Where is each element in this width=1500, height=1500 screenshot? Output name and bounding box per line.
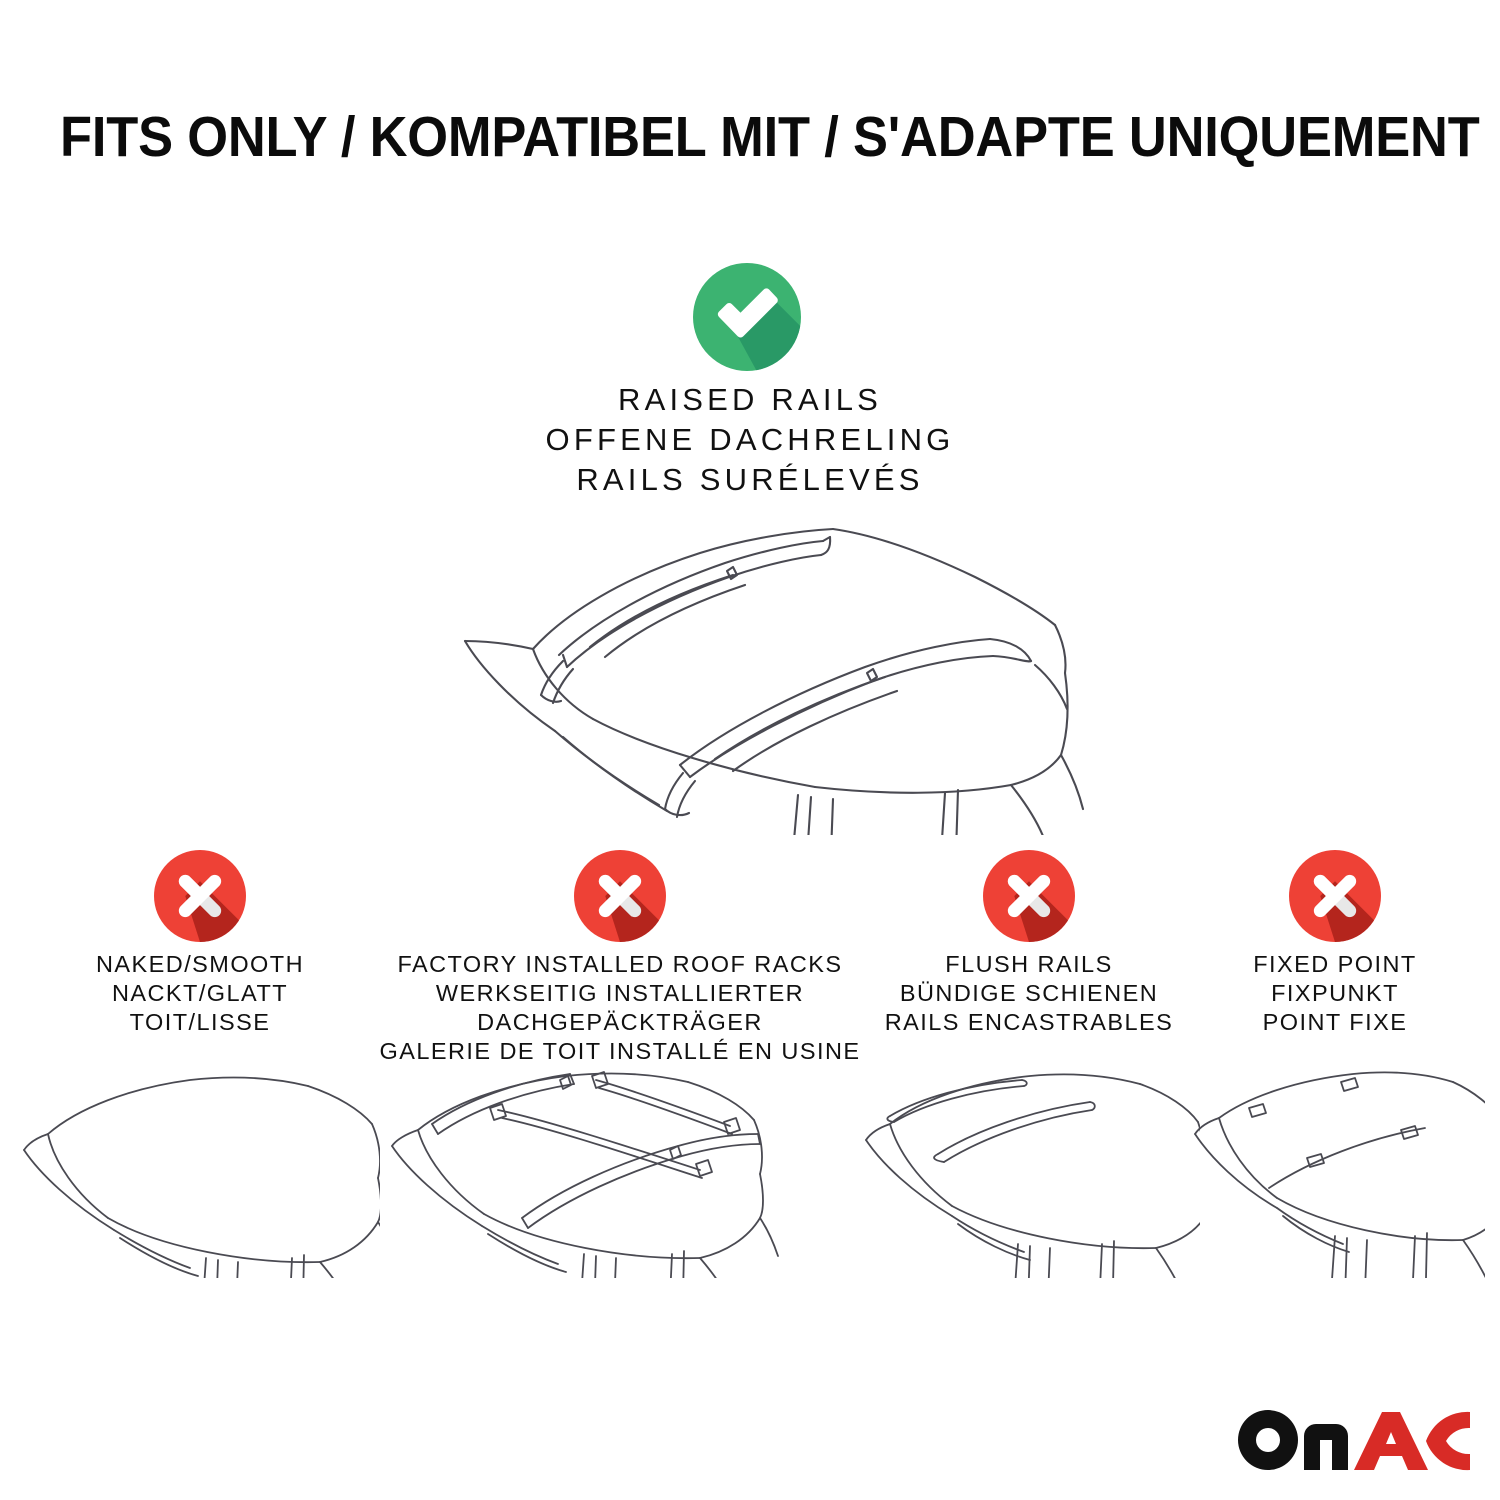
label-block: FLUSH RAILS BÜNDIGE SCHIENEN RAILS ENCAS… bbox=[858, 950, 1200, 1037]
flush-rails-roof-illustration bbox=[858, 1058, 1200, 1283]
label-line-3: POINT FIXE bbox=[1195, 1008, 1475, 1037]
logo-letter-o bbox=[1238, 1410, 1298, 1470]
label-block: FIXED POINT FIXPUNKT POINT FIXE bbox=[1195, 950, 1475, 1037]
page-title: FITS ONLY / KOMPATIBEL MIT / S'ADAPTE UN… bbox=[60, 104, 1440, 170]
red-x-icon bbox=[154, 850, 246, 942]
logo-letter-m bbox=[1304, 1424, 1348, 1470]
incompatible-column-fixed-point: FIXED POINT FIXPUNKT POINT FIXE bbox=[1195, 840, 1475, 1037]
label-line-1: NAKED/SMOOTH bbox=[20, 950, 380, 979]
fitment-info-graphic: FITS ONLY / KOMPATIBEL MIT / S'ADAPTE UN… bbox=[0, 0, 1500, 1500]
label-line-2: NACKT/GLATT bbox=[20, 979, 380, 1008]
label-line-3: RAILS ENCASTRABLES bbox=[858, 1008, 1200, 1037]
red-x-icon bbox=[574, 850, 666, 942]
raised-rails-roof-illustration bbox=[415, 505, 1095, 835]
incompatible-column-factory-racks: FACTORY INSTALLED ROOF RACKS WERKSEITIG … bbox=[370, 840, 870, 1066]
red-x-icon bbox=[1289, 850, 1381, 942]
compatible-label-block: RAISED RAILS OFFENE DACHRELING RAILS SUR… bbox=[0, 380, 1500, 500]
factory-roof-rack-illustration bbox=[370, 1058, 870, 1283]
label-block: FACTORY INSTALLED ROOF RACKS WERKSEITIG … bbox=[370, 950, 870, 1066]
compatible-label-line-1: RAISED RAILS bbox=[0, 380, 1500, 420]
incompatible-column-naked: NAKED/SMOOTH NACKT/GLATT TOIT/LISSE bbox=[20, 840, 380, 1037]
bare-roof-illustration bbox=[20, 1058, 380, 1283]
green-check-icon bbox=[693, 263, 801, 371]
icon-slot bbox=[1195, 840, 1475, 944]
icon-slot bbox=[370, 840, 870, 944]
label-line-1: FIXED POINT bbox=[1195, 950, 1475, 979]
logo-letter-c bbox=[1426, 1412, 1470, 1470]
icon-slot bbox=[20, 840, 380, 944]
omac-logo bbox=[1236, 1408, 1472, 1476]
fixed-point-roof-illustration bbox=[1185, 1058, 1475, 1283]
compatible-label-line-3: RAILS SURÉLEVÉS bbox=[0, 460, 1500, 500]
incompatible-column-flush-rails: FLUSH RAILS BÜNDIGE SCHIENEN RAILS ENCAS… bbox=[858, 840, 1200, 1037]
label-line-1: FACTORY INSTALLED ROOF RACKS bbox=[370, 950, 870, 979]
label-block: NAKED/SMOOTH NACKT/GLATT TOIT/LISSE bbox=[20, 950, 380, 1037]
icon-slot bbox=[858, 840, 1200, 944]
label-line-2: WERKSEITIG INSTALLIERTER bbox=[370, 979, 870, 1008]
label-line-2: FIXPUNKT bbox=[1195, 979, 1475, 1008]
label-line-3: TOIT/LISSE bbox=[20, 1008, 380, 1037]
red-x-icon bbox=[983, 850, 1075, 942]
label-line-1: FLUSH RAILS bbox=[858, 950, 1200, 979]
compatible-label-line-2: OFFENE DACHRELING bbox=[0, 420, 1500, 460]
label-line-2: BÜNDIGE SCHIENEN bbox=[858, 979, 1200, 1008]
label-line-3: DACHGEPÄCKTRÄGER bbox=[370, 1008, 870, 1037]
incompatible-columns: NAKED/SMOOTH NACKT/GLATT TOIT/LISSE bbox=[0, 840, 1500, 1290]
logo-letter-a bbox=[1354, 1412, 1428, 1470]
